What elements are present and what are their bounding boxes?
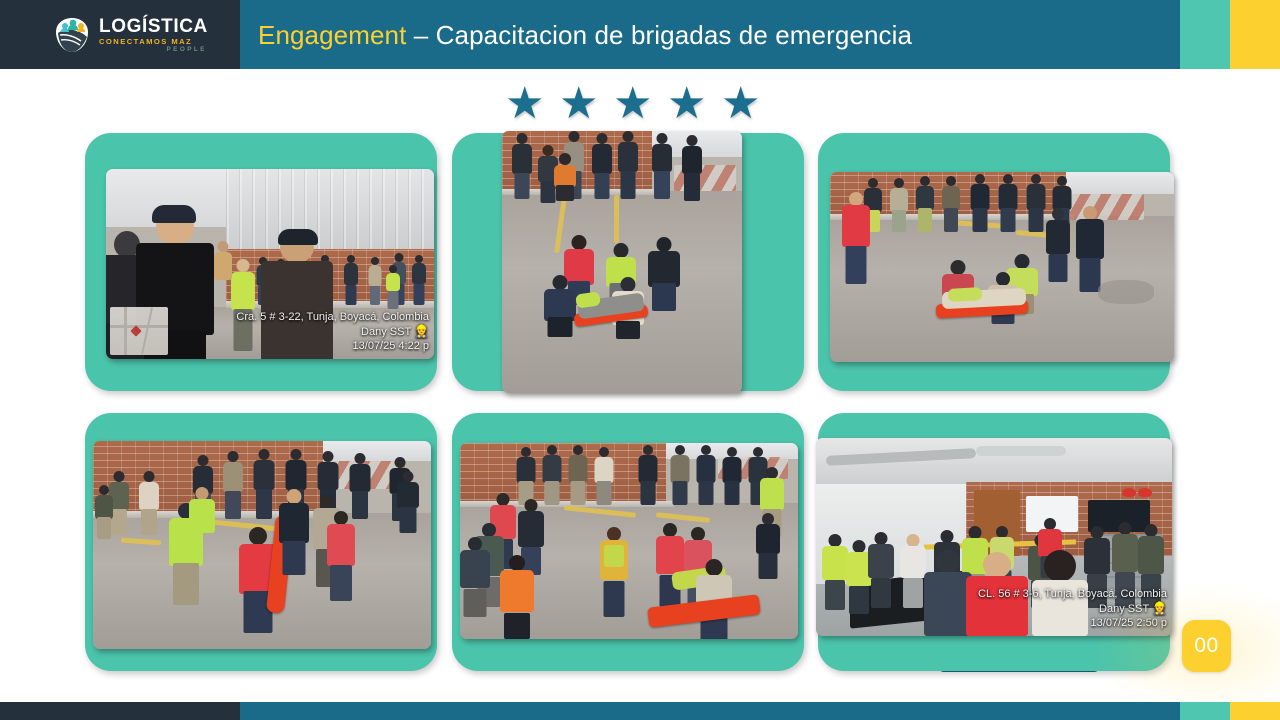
photo-tile[interactable]: Cra. 5 # 3-22, Tunja, Boyacá, Colombia D… bbox=[85, 133, 437, 391]
photo-tile[interactable] bbox=[85, 413, 437, 671]
header-logo-panel: LOGÍSTICA CONECTAMOS MAZ PEOPLE bbox=[0, 0, 240, 69]
photo-3[interactable] bbox=[830, 172, 1174, 362]
photo-5[interactable] bbox=[460, 443, 798, 639]
slide-footer bbox=[0, 702, 1280, 720]
logo-name: LOGÍSTICA bbox=[99, 17, 208, 37]
star-icon: ★ bbox=[559, 87, 593, 121]
page-number-badge: 00 bbox=[1182, 620, 1231, 672]
company-logo: LOGÍSTICA CONECTAMOS MAZ PEOPLE bbox=[52, 13, 198, 57]
geostamp-datetime: 13/07/25 2:50 p bbox=[978, 617, 1167, 630]
header-accent-teal bbox=[1180, 0, 1230, 69]
photo-5-scene bbox=[460, 443, 798, 639]
rating-stars: ★ ★ ★ ★ ★ bbox=[505, 82, 755, 126]
photo-tile[interactable] bbox=[452, 133, 804, 391]
photo-1[interactable]: Cra. 5 # 3-22, Tunja, Boyacá, Colombia D… bbox=[106, 169, 434, 359]
slide-header: LOGÍSTICA CONECTAMOS MAZ PEOPLE Engageme… bbox=[0, 0, 1280, 69]
logo-tagline-secondary: PEOPLE bbox=[99, 46, 208, 54]
photo-6[interactable]: CL. 56 # 3-6, Tunja, Boyacá, Colombia Da… bbox=[816, 438, 1172, 636]
star-icon: ★ bbox=[505, 87, 539, 121]
photo-tile[interactable] bbox=[452, 413, 804, 671]
photo-2-scene bbox=[502, 131, 742, 393]
page-title-rest: – Capacitacion de brigadas de emergencia bbox=[406, 20, 912, 50]
header-accent-yellow bbox=[1230, 0, 1280, 69]
geostamp-author: Dany SST 👷 bbox=[978, 601, 1167, 616]
logo-tagline: CONECTAMOS MAZ bbox=[99, 37, 208, 46]
slide-canvas: LOGÍSTICA CONECTAMOS MAZ PEOPLE Engageme… bbox=[0, 0, 1280, 720]
photo-4[interactable] bbox=[93, 441, 431, 649]
header-title-panel: Engagement – Capacitacion de brigadas de… bbox=[240, 0, 1180, 69]
logo-wordmark: LOGÍSTICA CONECTAMOS MAZ PEOPLE bbox=[99, 16, 208, 54]
star-icon: ★ bbox=[613, 87, 647, 121]
star-icon: ★ bbox=[667, 87, 701, 121]
page-title: Engagement – Capacitacion de brigadas de… bbox=[258, 22, 912, 48]
footer-dark-block bbox=[0, 702, 240, 720]
geostamp-address: CL. 56 # 3-6, Tunja, Boyacá, Colombia bbox=[978, 588, 1167, 601]
photo-1-geostamp: Cra. 5 # 3-22, Tunja, Boyacá, Colombia D… bbox=[236, 311, 429, 353]
photo-1-minimap-icon bbox=[110, 307, 168, 355]
geostamp-address: Cra. 5 # 3-22, Tunja, Boyacá, Colombia bbox=[236, 311, 429, 324]
geostamp-author: Dany SST 👷 bbox=[236, 324, 429, 339]
photo-tile[interactable]: CL. 56 # 3-6, Tunja, Boyacá, Colombia Da… bbox=[818, 413, 1170, 671]
photo-3-scene bbox=[830, 172, 1174, 362]
logo-mark-icon bbox=[52, 16, 92, 54]
footer-blue-block bbox=[240, 702, 1180, 720]
geostamp-datetime: 13/07/25 4:22 p bbox=[236, 340, 429, 353]
helmet-icon: 👷 bbox=[414, 324, 429, 338]
photo-tile[interactable] bbox=[818, 133, 1170, 391]
photo-6-geostamp: CL. 56 # 3-6, Tunja, Boyacá, Colombia Da… bbox=[978, 588, 1167, 630]
helmet-icon: 👷 bbox=[1152, 601, 1167, 615]
photo-4-scene bbox=[93, 441, 431, 649]
star-icon: ★ bbox=[721, 87, 755, 121]
photo-2[interactable] bbox=[502, 131, 742, 393]
page-title-accent: Engagement bbox=[258, 20, 406, 50]
footer-yellow-block bbox=[1230, 702, 1280, 720]
footer-teal-block bbox=[1180, 702, 1230, 720]
